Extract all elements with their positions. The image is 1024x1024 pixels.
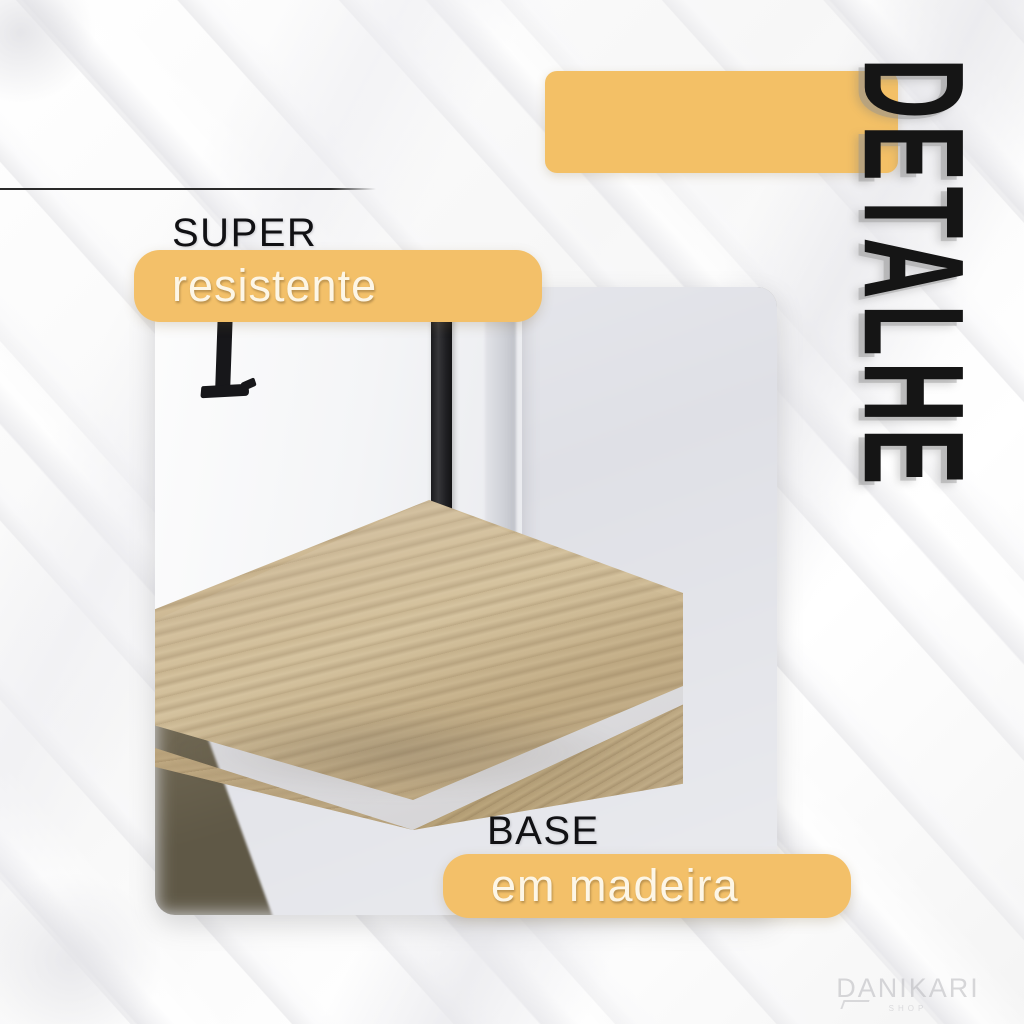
top-divider-rule	[0, 188, 376, 190]
brand-logo-name: DANIKARI	[828, 975, 988, 1002]
brand-logo: DANIKARI SHOP	[828, 975, 988, 1013]
vertical-title-wrapper: DETALHE	[853, 78, 973, 518]
product-photo	[155, 287, 777, 915]
callout-badge-resistente-text: resistente	[172, 260, 377, 312]
numeral-foot	[200, 384, 249, 398]
photo-base-dropshadow	[165, 707, 635, 797]
logo-mark-icon	[840, 1000, 869, 1009]
poster-canvas: DETALHE SUPER resistente BASE em madeira	[0, 0, 1024, 1024]
vertical-title-detalhe: DETALHE	[842, 58, 985, 490]
callout-badge-resistente: resistente	[134, 250, 542, 322]
callout-heading-base: BASE	[487, 809, 600, 854]
callout-badge-em-madeira: em madeira	[443, 854, 851, 918]
callout-badge-em-madeira-text: em madeira	[491, 860, 739, 912]
